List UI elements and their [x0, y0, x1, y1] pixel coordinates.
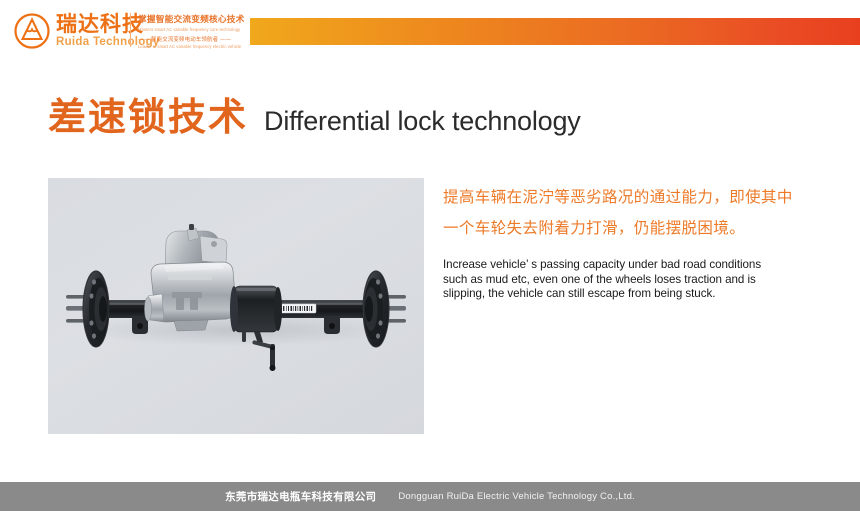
footer-company-en: Dongguan RuiDa Electric Vehicle Technolo…: [398, 491, 635, 502]
description-en-line-2: such as mud etc, even one of the wheels …: [443, 273, 803, 288]
description-en-paragraph: Increase vehicle’ s passing capacity und…: [443, 258, 803, 302]
company-tagline: 掌握智能交流变频核心技术 Masters smart AC variable f…: [138, 13, 250, 49]
tagline-line2-en: Leader of smart AC variable frequency el…: [138, 44, 250, 49]
rear-axle-illustration: [48, 178, 424, 434]
left-wheel-hub: [66, 271, 109, 347]
header-gradient-bar: [250, 18, 860, 45]
differential-lock-actuator: [230, 286, 282, 371]
ruida-circle-a-logo-icon: [13, 12, 51, 50]
page-title-en: Differential lock technology: [264, 108, 581, 135]
description-cn-line-1: 提高车辆在泥泞等恶劣路况的通过能力，即使其中: [443, 182, 815, 213]
suspension-bracket-right: [324, 316, 340, 334]
slide-footer: 东莞市瑞达电瓶车科技有限公司 Dongguan RuiDa Electric V…: [0, 482, 860, 511]
suspension-bracket-left: [132, 316, 148, 334]
differential-housing: [145, 224, 237, 331]
page-title: 差速锁技术 Differential lock technology: [48, 98, 581, 136]
product-photo-rear-axle: [48, 178, 424, 434]
barcode-sticker: [276, 304, 316, 313]
tagline-line1-en: Masters smart AC variable frequency core…: [138, 27, 250, 32]
tagline-line1-cn: 掌握智能交流变频核心技术: [138, 13, 252, 25]
tagline-line2-cn: —— 智能交流变频电动车领航者 ——: [138, 35, 250, 43]
description-en-line-3: slipping, the vehicle can still escape f…: [443, 287, 803, 302]
description-en-line-1: Increase vehicle’ s passing capacity und…: [443, 258, 803, 273]
footer-company-cn: 东莞市瑞达电瓶车科技有限公司: [225, 489, 376, 504]
slide-header: 瑞达科技 Ruida Technology 掌握智能交流变频核心技术 Maste…: [0, 0, 860, 62]
page-title-cn: 差速锁技术: [48, 98, 248, 136]
logo-divider: [130, 13, 131, 47]
description-block: 提高车辆在泥泞等恶劣路况的通过能力，即使其中 一个车轮失去附着力打滑，仍能摆脱困…: [443, 182, 815, 302]
description-cn-line-2: 一个车轮失去附着力打滑，仍能摆脱困境。: [443, 213, 815, 244]
right-wheel-hub: [363, 271, 406, 347]
